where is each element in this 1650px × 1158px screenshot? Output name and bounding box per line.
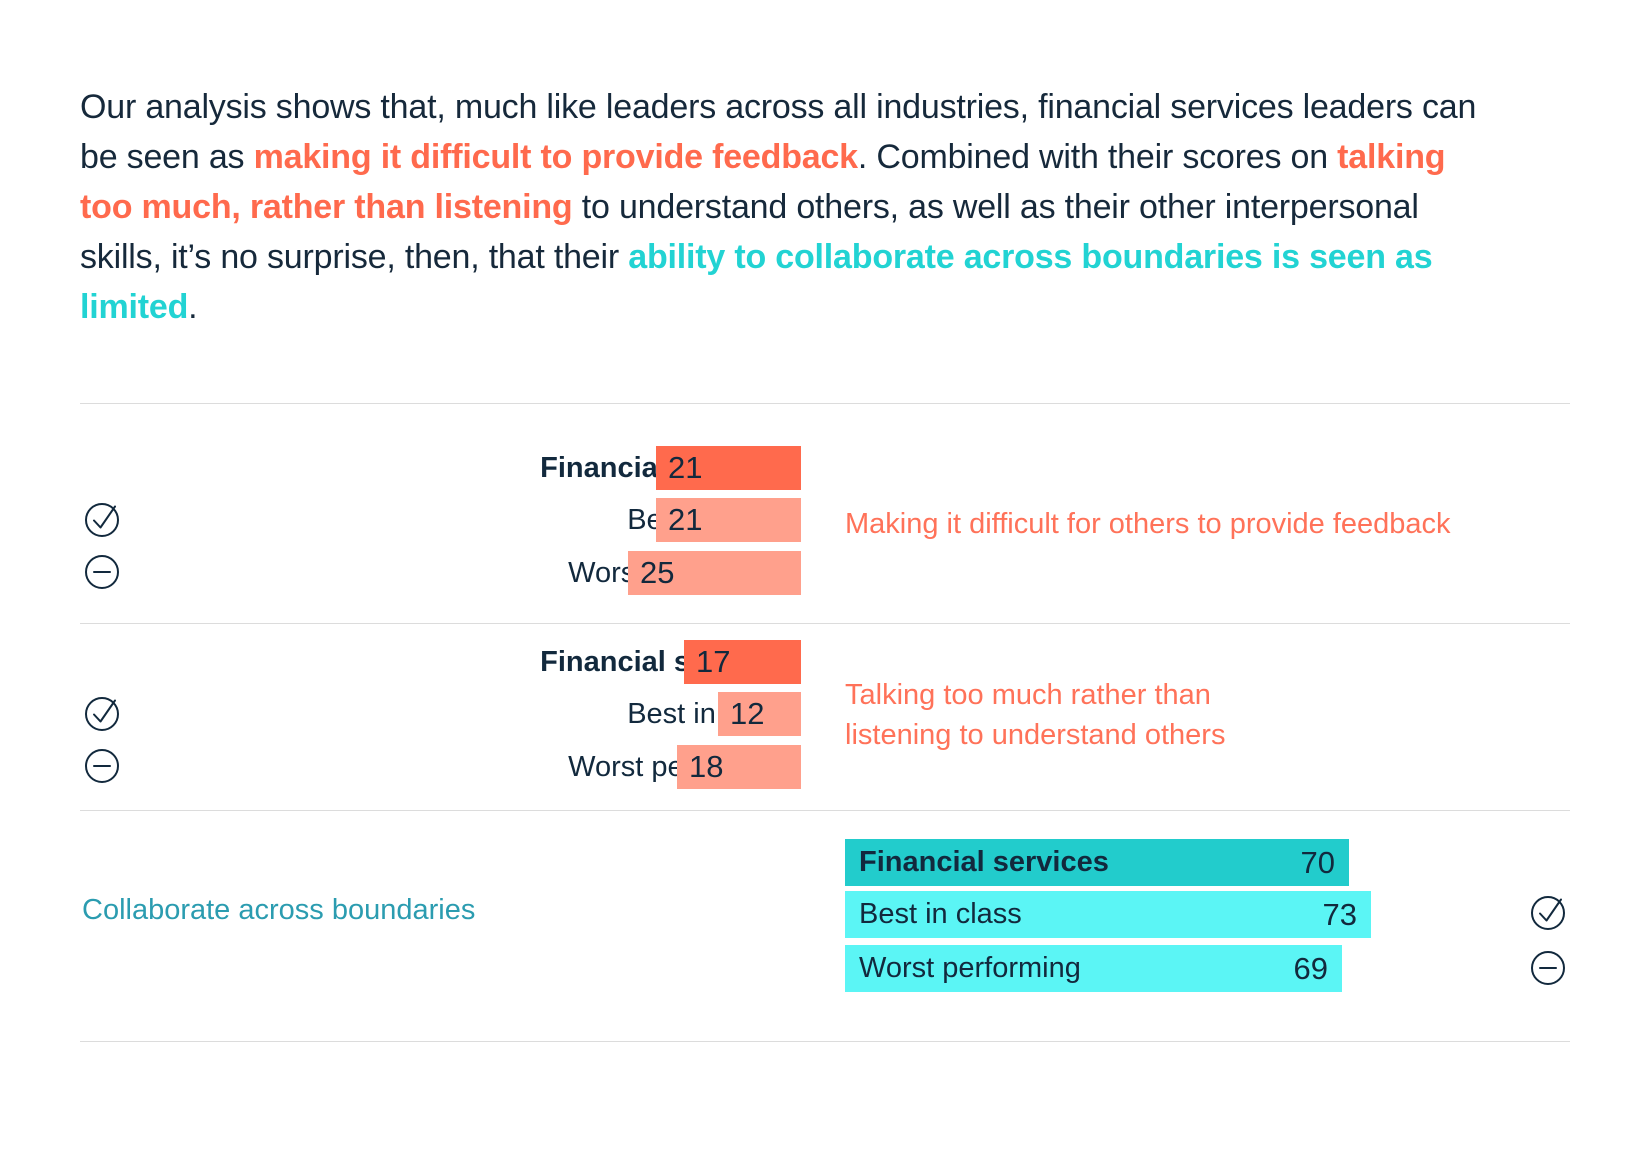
group-annotation: Collaborate across boundaries bbox=[82, 894, 475, 927]
minus-circle-icon bbox=[1528, 947, 1570, 989]
bar-value: 25 bbox=[640, 551, 674, 595]
bar: Best in class73 bbox=[845, 891, 1371, 938]
bar-row: Worst performing18 bbox=[0, 745, 1650, 789]
group-annotation: Talking too much rather than listening t… bbox=[845, 675, 1225, 755]
bar: 21 bbox=[656, 498, 801, 542]
bar-label: Financial services bbox=[859, 839, 1109, 886]
group-separator-2 bbox=[80, 810, 1570, 811]
bar-value: 70 bbox=[1301, 839, 1335, 886]
bar-chart-panel: Financial services21Best in class21Worst… bbox=[0, 0, 1650, 1158]
bar-value: 17 bbox=[696, 640, 730, 684]
bar-label: Best in class bbox=[859, 891, 1022, 938]
bar: 21 bbox=[656, 446, 801, 490]
bar-row: Financial services21 bbox=[0, 446, 1650, 490]
group-separator-0 bbox=[80, 403, 1570, 404]
bar-value: 21 bbox=[668, 446, 702, 490]
bar: 18 bbox=[677, 745, 801, 789]
bar-value: 18 bbox=[689, 745, 723, 789]
bar: Financial services70 bbox=[845, 839, 1349, 886]
bar-row: Best in class12 bbox=[0, 692, 1650, 736]
bar-value: 12 bbox=[730, 692, 764, 736]
check-circle-icon bbox=[1528, 891, 1570, 933]
bar-value: 69 bbox=[1294, 945, 1328, 992]
bar-value: 21 bbox=[668, 498, 702, 542]
bar-row: Financial services17 bbox=[0, 640, 1650, 684]
bar-label: Worst performing bbox=[859, 945, 1081, 992]
group-separator-1 bbox=[80, 623, 1570, 624]
bar: Worst performing69 bbox=[845, 945, 1342, 992]
bar-row: Worst performing25 bbox=[0, 551, 1650, 595]
bar: 25 bbox=[628, 551, 801, 595]
group-separator-3 bbox=[80, 1041, 1570, 1042]
bar: 17 bbox=[684, 640, 801, 684]
bar: 12 bbox=[718, 692, 801, 736]
group-annotation: Making it difficult for others to provid… bbox=[845, 504, 1451, 544]
bar-value: 73 bbox=[1323, 891, 1357, 938]
